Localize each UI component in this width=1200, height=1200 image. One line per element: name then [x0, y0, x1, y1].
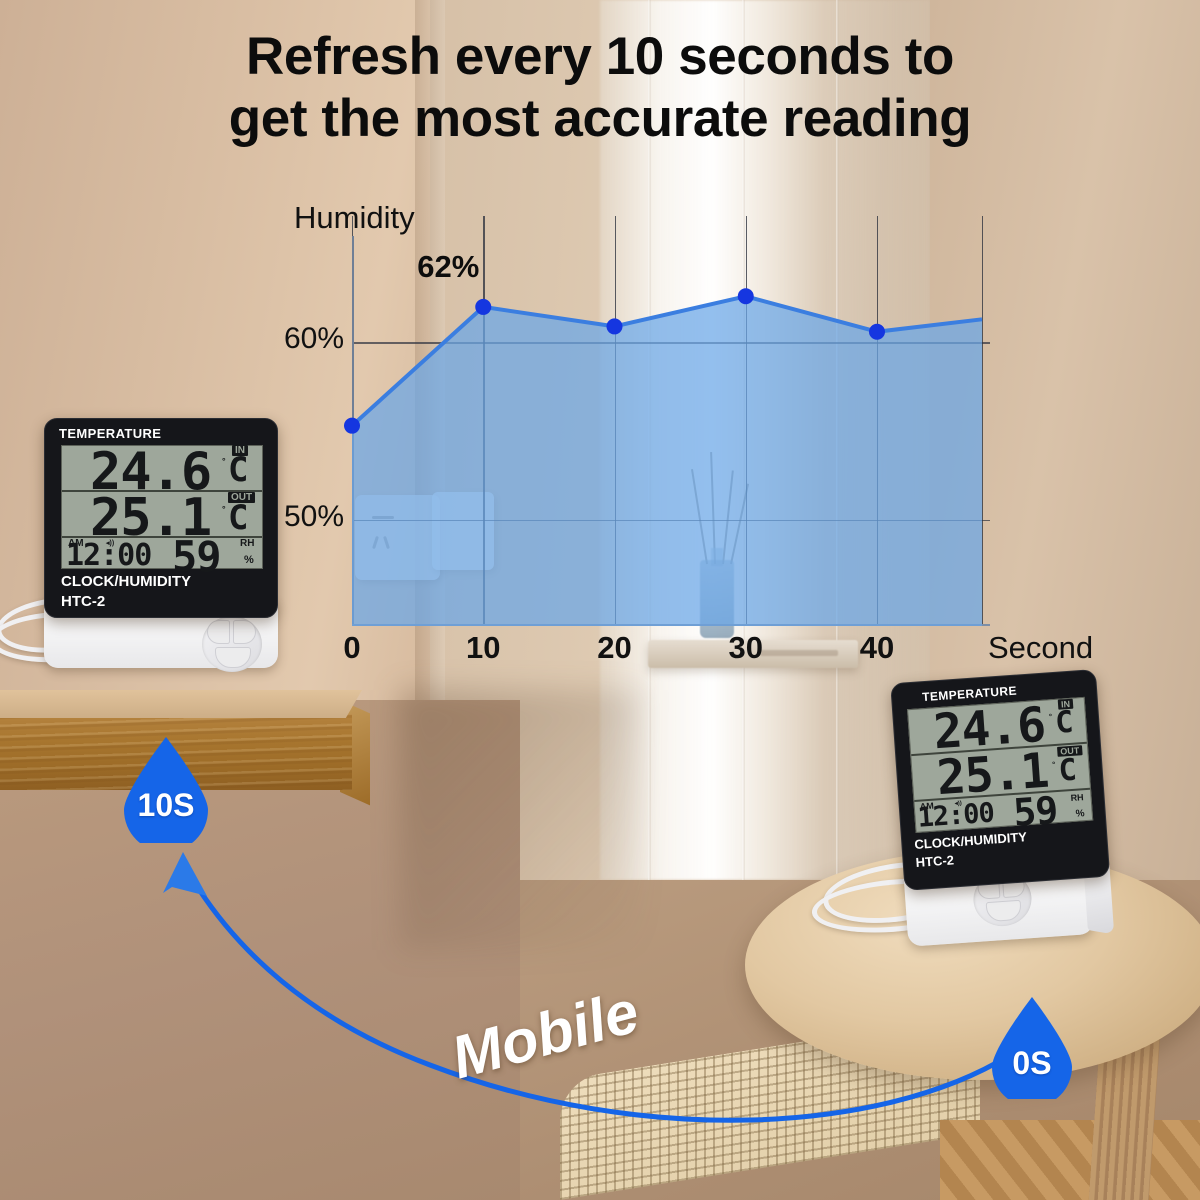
arrow-head [163, 852, 207, 896]
callout-drop-10s-label: 10S [120, 787, 212, 824]
callout-drop-10s[interactable]: 10S [120, 735, 212, 843]
callout-drop-0s[interactable]: 0S [988, 995, 1076, 1099]
callout-drop-0s-label: 0S [988, 1045, 1076, 1082]
